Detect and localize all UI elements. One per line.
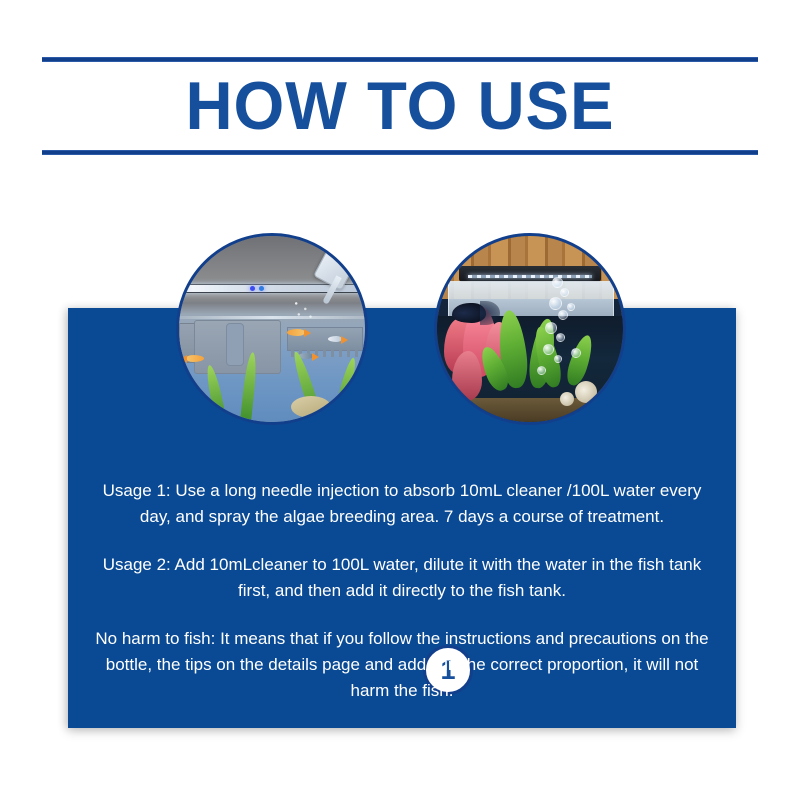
step-1-photo [176,233,368,425]
divider-bottom [42,150,758,155]
bubble [556,333,565,342]
snail-shell [560,392,574,406]
step-2: 2 [434,233,626,425]
divider-top [42,57,758,62]
usage-1-text: Usage 1: Use a long needle injection to … [90,478,714,530]
header: HOW TO USE [42,50,758,162]
spray-droplets [291,299,317,321]
no-harm-text: No harm to fish: It means that if you fo… [90,626,714,704]
bubble [543,344,554,355]
poster-page: HOW TO USE [0,0,800,800]
gravel-stone [291,396,331,418]
bubble [545,322,557,334]
step-2-photo [434,233,626,425]
bubble [549,297,562,310]
step-1: 1 [176,233,368,425]
page-title: HOW TO USE [56,66,743,146]
led-dot [250,286,255,291]
bubble [571,348,581,358]
usage-2-text: Usage 2: Add 10mLcleaner to 100L water, … [90,552,714,604]
bubble [560,288,569,297]
betta-fish [452,303,486,323]
instructions-block: Usage 1: Use a long needle injection to … [90,478,714,704]
snail-shell [575,381,597,403]
filter-knob [226,323,245,366]
tank-gravel [437,398,623,422]
water-line [179,316,365,319]
fish [287,329,305,336]
pink-plant [452,351,482,401]
